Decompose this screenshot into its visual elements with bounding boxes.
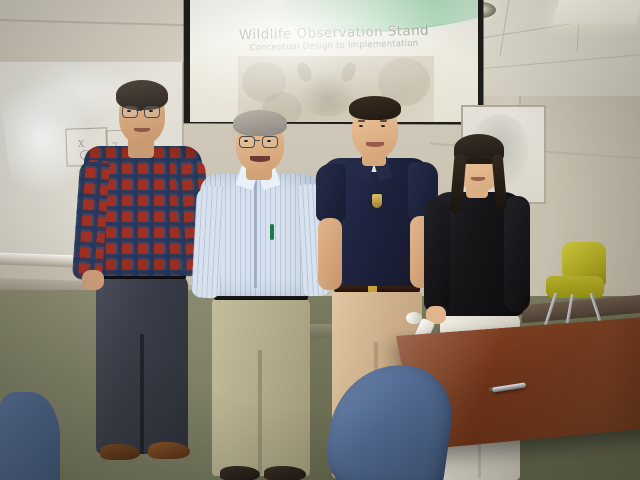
person-2-arm-left: [191, 185, 225, 298]
yellow-chair: [546, 246, 608, 304]
person-2-hair: [233, 110, 287, 136]
person-4-arm-left: [424, 198, 450, 314]
person-3-arm-left: [318, 218, 342, 290]
person-3-hair: [349, 96, 401, 120]
person-2: [198, 116, 326, 480]
person-1-hand: [82, 270, 104, 290]
person-1-shoe: [148, 442, 190, 459]
person-3-chest-crest-logo: [372, 194, 382, 208]
fluorescent-panel-light: [552, 0, 640, 24]
photograph: X 2 Wildlife Observation Stand Conceptua…: [0, 0, 640, 480]
person-2-pocket-pen: [270, 224, 274, 240]
person-2-shoe: [264, 466, 306, 480]
person-3-sleeve-left: [316, 164, 346, 222]
rolled-paper-end: [406, 312, 422, 324]
person-4-arm-right: [504, 196, 530, 312]
person-2-shoe: [220, 466, 260, 480]
foreground-denim-leg-2: [0, 392, 60, 480]
person-1-shoe: [100, 444, 140, 460]
